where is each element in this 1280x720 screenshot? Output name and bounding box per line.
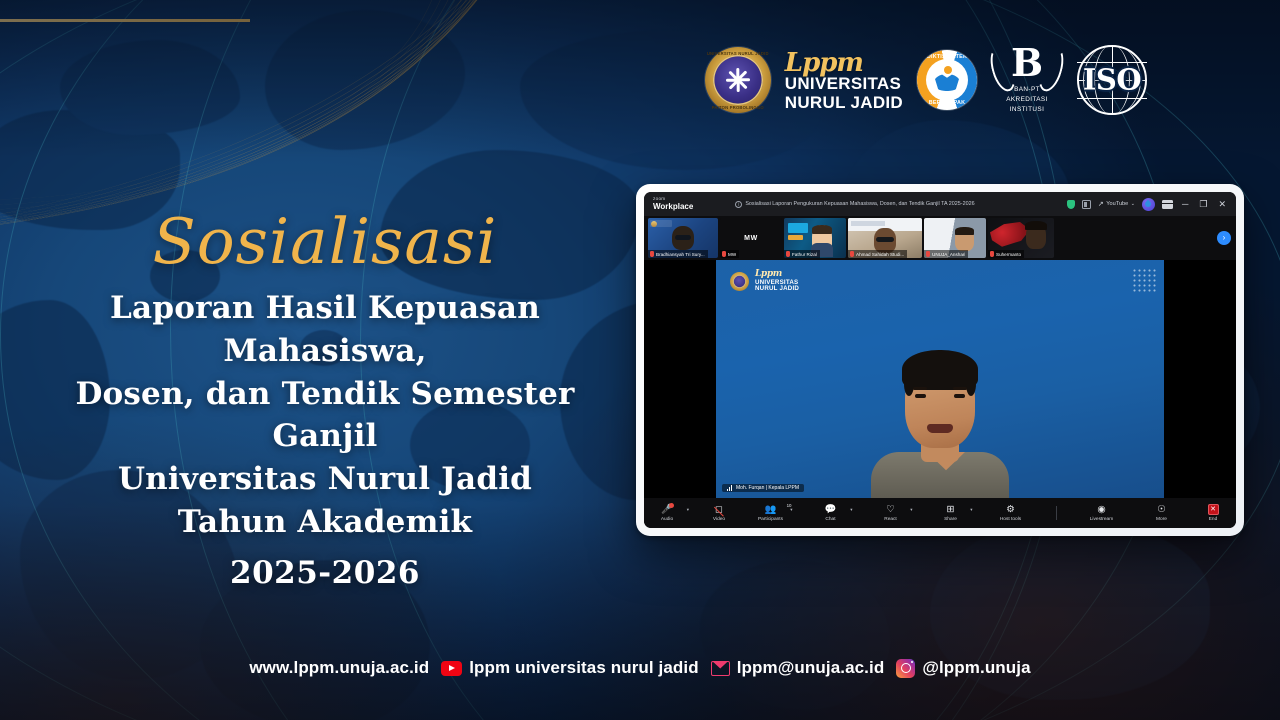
meeting-title: Sosialisasi Laporan Pengukuran Kepuasan …	[745, 201, 974, 207]
slide-nuruljadid-text: NURUL JADID	[755, 286, 799, 292]
livestream-label: Livestream	[1090, 517, 1113, 522]
zoom-app-window: zoom Workplace i Sosialisasi Laporan Pen…	[644, 192, 1236, 528]
chevron-down-icon: ⌄	[1131, 201, 1135, 207]
video-label: Video	[713, 517, 725, 522]
zoom-brand-large: Workplace	[653, 203, 693, 211]
video-button[interactable]: ◻ Video	[704, 504, 734, 522]
slide-dot-pattern	[1132, 268, 1158, 294]
title-line-2: Dosen, dan Tendik Semester Ganjil	[20, 373, 630, 459]
security-shield-icon[interactable]	[1067, 200, 1075, 209]
lppm-script-text: Lppm	[785, 50, 903, 76]
participant-thumbnail[interactable]: Bradhiansyah Tri Sury...	[648, 218, 718, 258]
participant-name: UNUJA_Anshari	[932, 252, 965, 257]
chevron-down-icon[interactable]: ▾	[687, 507, 689, 513]
iso-text: ISO	[1077, 62, 1147, 96]
chat-button[interactable]: 💬 Chat ▾	[816, 504, 846, 522]
youtube-item[interactable]: lppm universitas nurul jadid	[441, 658, 699, 678]
academic-year: 2025-2026	[20, 552, 630, 595]
banpt-grade: B	[991, 44, 1063, 82]
minimize-button[interactable]: ─	[1180, 200, 1190, 209]
title-line-3: Universitas Nurul Jadid	[20, 458, 630, 501]
participant-thumbnail[interactable]: Suhermanto	[988, 218, 1054, 258]
shared-slide-logo: Lppm UNIVERSITAS NURUL JADID	[730, 270, 799, 292]
chevron-down-icon[interactable]: ▾	[910, 507, 912, 513]
participant-name: Ahmad Sahidah Studi...	[856, 252, 904, 257]
seal-star-icon	[726, 68, 750, 92]
participant-name: Fathur Rizal	[792, 252, 817, 257]
meeting-title-group: i Sosialisasi Laporan Pengukuran Kepuasa…	[735, 201, 974, 208]
participant-thumbnail[interactable]: UNUJA_Anshari	[924, 218, 986, 258]
share-button[interactable]: ⊞ Share ▾	[936, 504, 966, 522]
livestream-icon: ◉	[1097, 504, 1105, 515]
page-title: Laporan Hasil Kepuasan Mahasiswa, Dosen,…	[20, 287, 630, 594]
lppm-universitas-text: UNIVERSITAS	[785, 75, 903, 92]
toolbar-divider	[1056, 506, 1057, 520]
participants-label: Participants	[758, 517, 783, 522]
window-controls: ↗ YouTube ⌄ ─ ❐ ✕	[1067, 198, 1230, 211]
end-label: End	[1209, 517, 1218, 522]
lppm-nuruljadid-text: NURUL JADID	[785, 94, 903, 111]
speaker-name: Moh. Furqan | Kepala LPPM	[736, 485, 799, 491]
active-speaker-label: Moh. Furqan | Kepala LPPM	[722, 484, 804, 492]
view-mode-icon[interactable]	[1162, 200, 1173, 209]
instagram-item[interactable]: @lppm.unuja	[896, 658, 1030, 678]
iso-certification-icon: ISO	[1077, 45, 1147, 115]
participant-name: MW	[728, 252, 736, 257]
diktisaintek-top-text: DIKTISAINTEK	[917, 54, 977, 60]
title-line-4: Tahun Akademik	[20, 501, 630, 544]
audio-button[interactable]: 🎤 Audio ▾	[652, 504, 682, 522]
participant-name: Suhermanto	[996, 252, 1021, 257]
host-tools-icon: ⚙	[1006, 504, 1015, 515]
participant-thumbnail[interactable]: Fathur Rizal	[784, 218, 846, 258]
participant-name: Bradhiansyah Tri Sury...	[656, 252, 705, 257]
chevron-down-icon[interactable]: ▾	[850, 507, 852, 513]
info-icon[interactable]: i	[735, 201, 742, 208]
script-title: Sosialisasi	[20, 210, 630, 273]
share-label: Share	[944, 517, 957, 522]
mic-muted-icon	[850, 251, 854, 257]
participant-initials: MW	[744, 235, 758, 242]
heart-icon: ♡	[886, 504, 895, 515]
banpt-institusi-label: INSTITUSI	[991, 106, 1063, 113]
livestream-youtube-button[interactable]: ↗ YouTube ⌄	[1098, 200, 1135, 208]
audio-label: Audio	[661, 517, 673, 522]
avatar[interactable]	[1142, 198, 1155, 211]
zoom-meeting-screenshot: zoom Workplace i Sosialisasi Laporan Pen…	[636, 184, 1244, 536]
participant-thumbnail[interactable]: MW MW	[720, 218, 782, 258]
chat-icon: 💬	[825, 504, 837, 515]
participants-icon: 👥	[765, 504, 777, 515]
zoom-title-bar: zoom Workplace i Sosialisasi Laporan Pen…	[644, 192, 1236, 216]
signal-icon	[727, 485, 733, 491]
seal-icon	[730, 272, 749, 291]
participant-thumbnail[interactable]: Ahmad Sahidah Studi...	[848, 218, 922, 258]
zoom-toolbar: 🎤 Audio ▾ ◻ Video 👥 10 Pa	[644, 498, 1236, 528]
mic-muted-icon	[990, 251, 994, 257]
notes-panel-icon[interactable]	[1082, 200, 1091, 209]
participants-filmstrip: Bradhiansyah Tri Sury... MW MW Fathur Ri…	[644, 216, 1236, 260]
speaker-portrait	[865, 348, 1015, 498]
livestream-button[interactable]: ◉ Livestream	[1087, 504, 1117, 522]
lppm-wordmark: Lppm UNIVERSITAS NURUL JADID	[785, 50, 903, 111]
end-call-button[interactable]: ✕ End	[1198, 504, 1228, 522]
logo-row: UNIVERSITAS NURUL JADID PAITON PROBOLING…	[705, 42, 1147, 118]
mic-muted-icon	[786, 251, 790, 257]
react-button[interactable]: ♡ React ▾	[876, 504, 906, 522]
banpt-accreditation-icon: B BAN-PT AKREDITASI INSTITUSI	[991, 42, 1063, 118]
broadcast-icon: ↗	[1098, 200, 1104, 208]
close-icon[interactable]: ✕	[1216, 200, 1228, 209]
host-tools-label: Host tools	[1000, 517, 1021, 522]
chat-label: Chat	[825, 517, 835, 522]
instagram-text: @lppm.unuja	[922, 658, 1030, 678]
more-icon: ☉	[1157, 504, 1166, 515]
share-screen-icon: ⊞	[947, 504, 955, 515]
email-text: lppm@unuja.ac.id	[737, 658, 885, 678]
universitas-nurul-jadid-seal-icon: UNIVERSITAS NURUL JADID PAITON PROBOLING…	[705, 47, 771, 113]
maximize-button[interactable]: ❐	[1197, 200, 1209, 209]
poster-stage: UNIVERSITAS NURUL JADID PAITON PROBOLING…	[0, 0, 1280, 720]
instagram-icon	[896, 659, 915, 678]
react-label: React	[884, 517, 897, 522]
seal-bottom-text: PAITON PROBOLINGGO	[705, 105, 771, 110]
mic-muted-icon	[650, 251, 654, 257]
youtube-icon	[441, 661, 462, 676]
more-button[interactable]: ☉ More	[1147, 504, 1177, 522]
active-speaker-video[interactable]: Lppm UNIVERSITAS NURUL JADID	[716, 260, 1164, 498]
zoom-brand: zoom Workplace	[653, 197, 693, 211]
banpt-akreditasi-label: AKREDITASI	[991, 96, 1063, 103]
mail-icon	[711, 661, 730, 676]
livestream-label: YouTube	[1106, 201, 1128, 207]
email-item[interactable]: lppm@unuja.ac.id	[711, 658, 885, 678]
footer-contact-bar: www.lppm.unuja.ac.id lppm universitas nu…	[0, 658, 1280, 678]
title-line-1: Laporan Hasil Kepuasan Mahasiswa,	[20, 287, 630, 373]
diktisaintek-berdampak-icon: DIKTISAINTEK BERDAMPAK	[917, 50, 977, 110]
diktisaintek-bottom-text: BERDAMPAK	[917, 100, 977, 106]
zoom-main-stage: Lppm UNIVERSITAS NURUL JADID	[644, 260, 1236, 498]
banpt-label: BAN-PT	[991, 86, 1063, 93]
slide-lppm-script: Lppm	[755, 270, 799, 279]
chevron-down-icon[interactable]: ▾	[790, 507, 792, 513]
host-tools-button[interactable]: ⚙ Host tools	[996, 504, 1026, 522]
next-participants-page-button[interactable]: ›	[1217, 231, 1231, 245]
youtube-text: lppm universitas nurul jadid	[469, 658, 699, 678]
mic-muted-icon	[926, 251, 930, 257]
chevron-down-icon[interactable]: ▾	[970, 507, 972, 513]
mic-muted-icon	[722, 251, 726, 257]
end-call-icon: ✕	[1208, 504, 1219, 515]
poster-text-block: Sosialisasi Laporan Hasil Kepuasan Mahas…	[20, 210, 630, 594]
participants-button[interactable]: 👥 10 Participants ▾	[756, 504, 786, 522]
more-label: More	[1156, 517, 1167, 522]
website-text[interactable]: www.lppm.unuja.ac.id	[249, 658, 429, 678]
